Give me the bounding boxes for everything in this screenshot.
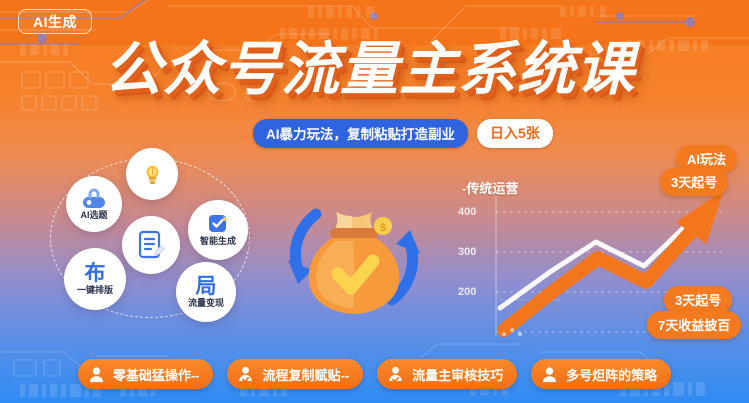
page-title: 公众号流量主系统课 <box>104 39 635 101</box>
money-bag-icon: $ <box>309 212 400 314</box>
footer-feature-bar: 零基础猛操作-- 流程复制赋贴-- 流量主审核技巧 多号炟阵的策略 <box>0 345 749 403</box>
ai-generated-badge: AI生成 <box>18 9 92 34</box>
diagram-node-layout-glyph: 布 <box>85 263 106 285</box>
poster-canvas: AI生成 公众号流量主系统课 AI暴力玩法，复制粘贴打造副业 日入5张 <box>0 0 749 403</box>
user-check-icon <box>236 365 255 384</box>
diagram-node-monetize: 局 流量变现 <box>176 262 236 322</box>
subtitle-pill: AI暴力玩法，复制粘贴打造副业 <box>253 119 468 148</box>
footer-item-2[interactable]: 流量主审核技巧 <box>377 359 517 389</box>
user-check-icon <box>386 365 405 384</box>
lightbulb-icon <box>143 165 162 184</box>
ai-topic-icon <box>81 188 107 210</box>
diagram-node-monetize-glyph: 局 <box>196 276 217 298</box>
ai-generated-badge-label: AI生成 <box>33 12 77 32</box>
footer-item-2-label: 流量主审核技巧 <box>412 365 503 384</box>
diagram-node-smart-label: 智能生成 <box>200 236 236 247</box>
document-icon <box>136 229 166 261</box>
money-bag-illustration: $ <box>278 186 430 328</box>
workflow-diagram: AI选题 智能生成 布 一键排版 局 流量变现 <box>28 148 278 333</box>
diagram-node-topic-label: AI选题 <box>80 210 107 221</box>
footer-item-0-label: 零基础猛操作-- <box>113 365 200 384</box>
smart-edit-icon <box>207 213 230 236</box>
diagram-node-topic: AI选题 <box>66 176 122 232</box>
footer-item-1[interactable]: 流程复制赋贴-- <box>227 359 363 389</box>
diagram-node-layout: 布 一键排版 <box>64 248 126 310</box>
highlight-pill: 日入5张 <box>477 119 553 148</box>
svg-text:$: $ <box>380 222 386 234</box>
diagram-node-layout-label: 一键排版 <box>77 285 113 296</box>
diagram-node-document <box>122 216 180 274</box>
diagram-node-idea <box>126 148 178 200</box>
chart-badge-7day: 7天收益披百 <box>647 311 741 339</box>
footer-item-3[interactable]: 多号炟阵的策略 <box>531 359 671 389</box>
footer-item-1-label: 流程复制赋贴-- <box>262 365 349 384</box>
user-icon <box>540 365 559 384</box>
footer-item-3-label: 多号炟阵的策略 <box>566 365 657 384</box>
footer-item-0[interactable]: 零基础猛操作-- <box>78 359 214 389</box>
subtitle-row: AI暴力玩法，复制粘贴打造副业 日入5张 <box>253 119 553 148</box>
diagram-node-smart: 智能生成 <box>188 200 248 260</box>
chart-badge-3day-top: 3天起号 <box>660 168 728 196</box>
user-icon <box>87 365 106 384</box>
diagram-node-monetize-label: 流量变现 <box>188 298 224 309</box>
chart-badge-3day-bottom: 3天起号 <box>664 286 732 314</box>
